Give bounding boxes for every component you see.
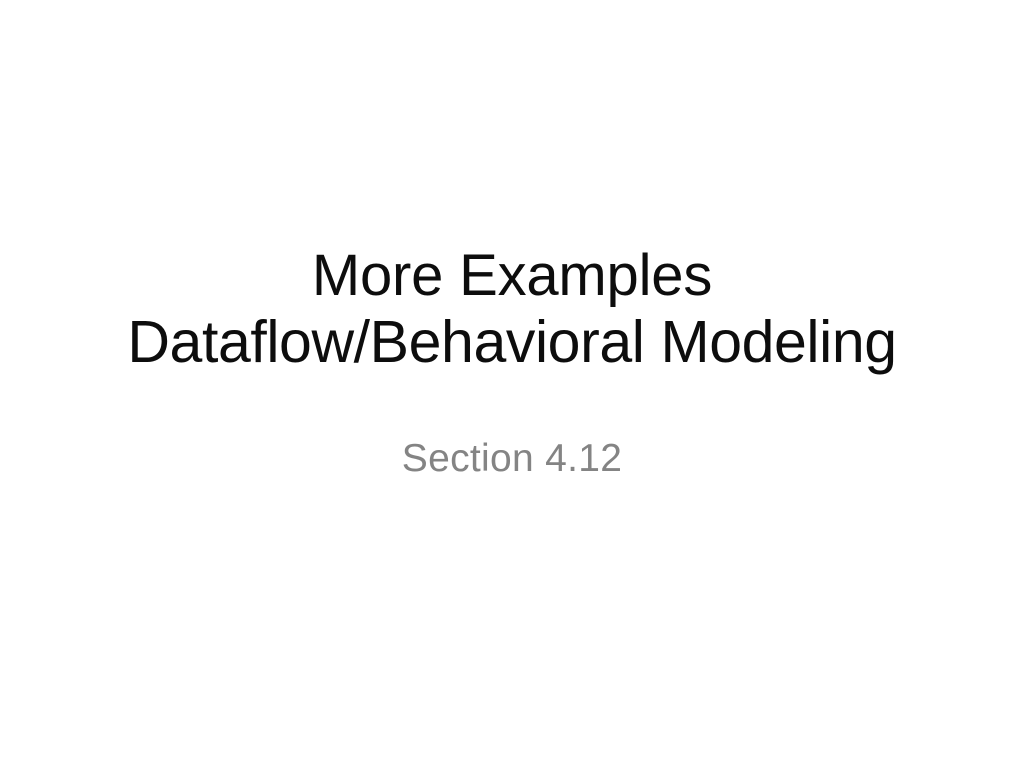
slide-canvas: More Examples Dataflow/Behavioral Modeli… [0, 0, 1024, 768]
slide-title: More Examples Dataflow/Behavioral Modeli… [0, 242, 1024, 376]
title-line-2: Dataflow/Behavioral Modeling [0, 309, 1024, 376]
title-line-1: More Examples [0, 242, 1024, 309]
slide-subtitle: Section 4.12 [0, 434, 1024, 484]
subtitle-text: Section 4.12 [0, 434, 1024, 484]
